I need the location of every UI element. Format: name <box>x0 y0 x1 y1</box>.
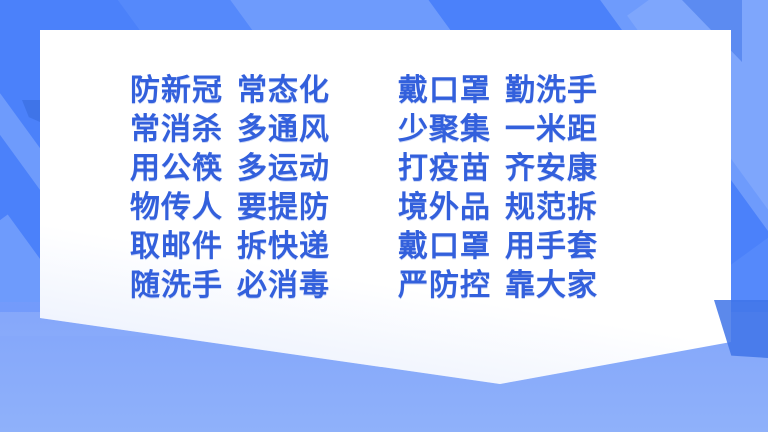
slogan-line: 戴口罩 勤洗手 <box>398 72 598 109</box>
slogan-phrase: 靠大家 <box>505 267 598 304</box>
slogan-phrase: 打疫苗 <box>398 150 491 187</box>
slogan-line: 严防控 靠大家 <box>398 267 598 304</box>
slogan-phrase: 用公筷 <box>130 150 223 187</box>
slogan-phrase: 随洗手 <box>130 267 223 304</box>
slogan-phrase: 齐安康 <box>505 150 598 187</box>
slogan-phrase: 少聚集 <box>398 111 491 148</box>
slogan-phrase: 境外品 <box>398 189 491 226</box>
slogan-line: 物传人 要提防 <box>130 189 330 226</box>
slogan-column-left: 防新冠 常态化 常消杀 多通风 用公筷 多运动 物传人 要提防 取邮件 拆快递 … <box>130 72 330 304</box>
slogan-line: 随洗手 必消毒 <box>130 267 330 304</box>
slogan-phrase: 拆快递 <box>237 228 330 265</box>
slogan-phrase: 戴口罩 <box>398 72 491 109</box>
slogan-phrase: 常消杀 <box>130 111 223 148</box>
slogan-line: 防新冠 常态化 <box>130 72 330 109</box>
slogan-line: 取邮件 拆快递 <box>130 228 330 265</box>
slogan-phrase: 常态化 <box>237 72 330 109</box>
slogan-line: 用公筷 多运动 <box>130 150 330 187</box>
background-accent-chip-left <box>22 100 40 122</box>
slogan-phrase: 必消毒 <box>237 267 330 304</box>
slogan-phrase: 规范拆 <box>505 189 598 226</box>
slogan-phrase: 物传人 <box>130 189 223 226</box>
slogan-line: 戴口罩 用手套 <box>398 228 598 265</box>
slogan-phrase: 多运动 <box>237 150 330 187</box>
slogan-phrase: 严防控 <box>398 267 491 304</box>
slogan-phrase: 勤洗手 <box>505 72 598 109</box>
slogan-line: 常消杀 多通风 <box>130 111 330 148</box>
slogan-phrase: 戴口罩 <box>398 228 491 265</box>
slogan-phrase: 要提防 <box>237 189 330 226</box>
poster-slide: 防新冠 常态化 常消杀 多通风 用公筷 多运动 物传人 要提防 取邮件 拆快递 … <box>0 0 768 432</box>
slogan-line: 境外品 规范拆 <box>398 189 598 226</box>
slogan-phrase: 一米距 <box>505 111 598 148</box>
slogan-phrase: 用手套 <box>505 228 598 265</box>
slogan-column-right: 戴口罩 勤洗手 少聚集 一米距 打疫苗 齐安康 境外品 规范拆 戴口罩 用手套 … <box>398 72 598 304</box>
slogan-phrase: 取邮件 <box>130 228 223 265</box>
slogan-phrase: 防新冠 <box>130 72 223 109</box>
slogan-line: 打疫苗 齐安康 <box>398 150 598 187</box>
slogan-phrase: 多通风 <box>237 111 330 148</box>
slogan-grid: 防新冠 常态化 常消杀 多通风 用公筷 多运动 物传人 要提防 取邮件 拆快递 … <box>130 72 650 304</box>
slogan-line: 少聚集 一米距 <box>398 111 598 148</box>
